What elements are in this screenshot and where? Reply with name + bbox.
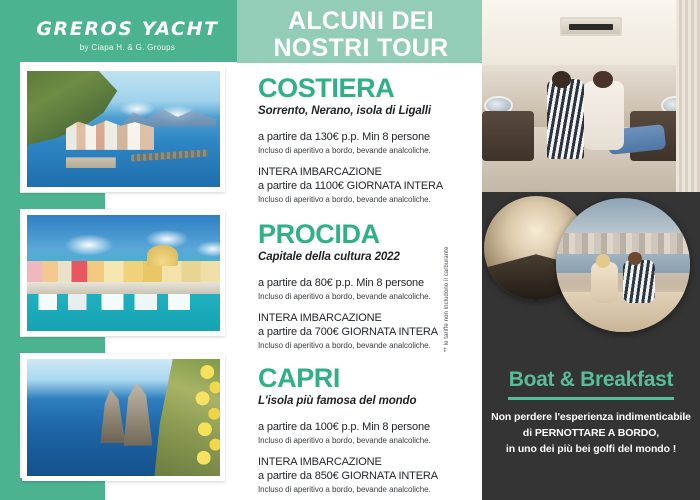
cabin-curtain: [676, 0, 700, 192]
tour-whole-boat-note: Incluso di aperitivo a bordo, bevande an…: [258, 194, 473, 205]
boat-and-breakfast-promo: Boat & Breakfast Non perdere l'esperienz…: [482, 368, 700, 457]
boats-shape: [31, 294, 216, 310]
tour-title: CAPRI: [258, 364, 473, 393]
tour-price-note: Incluso di aperitivo a bordo, bevande an…: [258, 435, 473, 446]
tour-title: PROCIDA: [258, 220, 473, 249]
tour-title: COSTIERA: [258, 74, 473, 103]
person-man-head: [628, 252, 641, 265]
capri-faraglioni-photo: [27, 359, 220, 476]
mountain-shape: [120, 101, 217, 127]
promo-line-1: Non perdere l'esperienza indimenticabile: [482, 409, 700, 425]
tour-subtitle: Sorrento, Nerano, isola di Ligalli: [258, 105, 473, 117]
bridge-shape: [66, 150, 116, 169]
faraglioni-rock-2: [124, 382, 153, 445]
tour-photo-card-capri: [22, 354, 225, 481]
tour-block-costiera: COSTIERA Sorrento, Nerano, isola di Liga…: [258, 74, 473, 205]
faraglioni-rock-1: [100, 389, 125, 443]
person-man-body: [547, 79, 584, 160]
brand-logo: GREROS YACHT by Ciapa H. & G. Groups: [20, 18, 235, 52]
tour-subtitle: Capitale della cultura 2022: [258, 251, 473, 263]
couple-dining-photo: [556, 198, 690, 332]
promo-line-2: di PERNOTTARE A BORDO,: [482, 425, 700, 441]
brochure-page: GREROS YACHT by Ciapa H. & G. Groups ALC…: [0, 0, 700, 500]
tour-whole-boat-note: Incluso di aperitivo a bordo, bevande an…: [258, 484, 473, 495]
tour-whole-boat-note: Incluso di aperitivo a bordo, bevande an…: [258, 340, 473, 351]
person-woman-body: [584, 81, 623, 150]
brand-name: GREROS YACHT: [20, 18, 235, 40]
lemons-shape: [162, 361, 220, 471]
tour-whole-boat-price: a partire da 850€ GIORNATA INTERA: [258, 469, 473, 483]
person-woman-head: [593, 71, 613, 88]
page-title-line-1: ALCUNI DEI: [240, 8, 482, 35]
city-skyline: [556, 233, 690, 254]
tour-whole-boat-price: a partire da 1100€ GIORNATA INTERA: [258, 179, 473, 193]
tour-photo-card-costiera: [22, 66, 225, 192]
left-teal-spine: [0, 0, 20, 500]
tour-price-note: Incluso di aperitivo a bordo, bevande an…: [258, 145, 473, 156]
promo-divider: [508, 397, 674, 400]
promo-line-3: in uno dei più bei golfi del mondo !: [482, 441, 700, 457]
tour-whole-boat-label: INTERA IMBARCAZIONE: [258, 455, 473, 469]
person-woman-body: [591, 262, 618, 302]
amalfi-coast-photo: [27, 71, 220, 187]
page-title: ALCUNI DEI NOSTRI TOUR: [240, 4, 482, 60]
tour-whole-boat-label: INTERA IMBARCAZIONE: [258, 311, 473, 325]
tour-price-line: a partire da 100€ p.p. Min 8 persone: [258, 420, 473, 434]
tour-price-line: a partire da 130€ p.p. Min 8 persone: [258, 130, 473, 144]
tour-block-procida: PROCIDA Capitale della cultura 2022 a pa…: [258, 220, 473, 351]
pier-shape: [131, 150, 208, 162]
church-dome-shape: [147, 245, 178, 266]
tour-whole-boat-label: INTERA IMBARCAZIONE: [258, 165, 473, 179]
teal-footer-tab: [0, 478, 105, 500]
tour-photo-card-procida: [22, 210, 225, 336]
tour-block-capri: CAPRI L'isola più famosa del mondo a par…: [258, 364, 473, 495]
tour-subtitle: L'isola più famosa del mondo: [258, 395, 473, 407]
tour-price-line: a partire da 80€ p.p. Min 8 persone: [258, 276, 473, 290]
fine-print-vertical: ** le tariffe non includono il carburant…: [444, 220, 458, 352]
cabin-hatch-icon: [560, 17, 621, 36]
brand-tagline: by Ciapa H. & G. Groups: [20, 43, 235, 52]
procida-harbour-photo: [27, 215, 220, 331]
person-man-body: [623, 260, 655, 303]
promo-title: Boat & Breakfast: [482, 368, 700, 392]
tour-whole-boat-price: a partire da 700€ GIORNATA INTERA: [258, 325, 473, 339]
yacht-cabin-couple-photo: [482, 0, 700, 192]
person-woman-head: [596, 254, 609, 267]
teal-divider-tab-2: [0, 337, 105, 353]
cabin-cushion-left: [482, 111, 534, 161]
teal-divider-tab-1: [0, 193, 105, 209]
page-title-line-2: NOSTRI TOUR: [240, 35, 482, 62]
tour-price-note: Incluso di aperitivo a bordo, bevande an…: [258, 291, 473, 302]
